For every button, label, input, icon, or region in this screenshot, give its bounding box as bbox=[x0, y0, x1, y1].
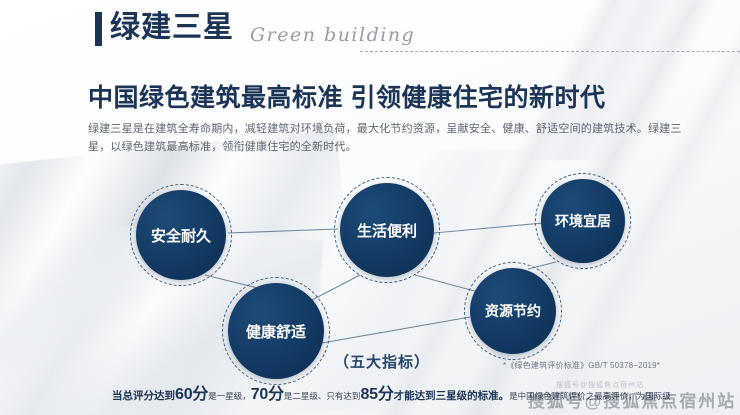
score-text-4: 才能达到三星级的标准。 bbox=[394, 390, 510, 402]
indicator-label: 环境宜居 bbox=[555, 211, 611, 231]
header-accent-bar bbox=[95, 12, 102, 46]
score-value-1: 60分 bbox=[175, 386, 208, 403]
watermark: 搜狐号@搜狐焦点宿州站 bbox=[524, 383, 740, 415]
header: 绿建三星 Green building bbox=[95, 10, 710, 54]
indicator-node-life[interactable]: 生活便利 bbox=[340, 183, 434, 277]
brand-title-zh: 绿建三星 bbox=[110, 8, 234, 48]
standard-reference-note: *《绿色建筑评价标准》GB/T 50378−2019* bbox=[503, 360, 660, 371]
indicator-label: 资源节约 bbox=[485, 301, 541, 321]
page-title: 中国绿色建筑最高标准 引领健康住宅的新时代 bbox=[88, 78, 605, 114]
header-dashed-rule bbox=[360, 51, 740, 52]
score-value-3: 85分 bbox=[360, 386, 393, 403]
five-indicator-diagram: 安全耐久 生活便利 环境宜居 健康舒适 资源节约 （五大指标） *《绿色建筑评价… bbox=[0, 165, 740, 380]
slide-root: 绿建三星 Green building 中国绿色建筑最高标准 引领健康住宅的新时… bbox=[0, 0, 740, 415]
indicator-label: 生活便利 bbox=[357, 220, 417, 241]
indicator-node-safety[interactable]: 安全耐久 bbox=[136, 190, 226, 280]
brand-title-script: Green building bbox=[250, 24, 415, 46]
lead-paragraph: 绿建三星是在建筑全寿命期内，减轻建筑对环境负荷，最大化节约资源，呈献安全、健康、… bbox=[88, 120, 703, 156]
indicator-node-health[interactable]: 健康舒适 bbox=[228, 283, 324, 379]
score-text-1: 当总评分达到 bbox=[112, 390, 175, 402]
indicator-node-resource[interactable]: 资源节约 bbox=[470, 268, 556, 354]
score-text-2: 是一星级， bbox=[208, 391, 251, 401]
indicator-node-environment[interactable]: 环境宜居 bbox=[541, 179, 625, 263]
score-value-2: 70分 bbox=[251, 386, 284, 403]
indicator-label: 健康舒适 bbox=[246, 321, 306, 342]
indicator-label: 安全耐久 bbox=[151, 225, 211, 246]
diagram-caption: （五大指标） bbox=[334, 351, 430, 372]
score-text-3: 是二星级、只有达到 bbox=[284, 391, 361, 401]
